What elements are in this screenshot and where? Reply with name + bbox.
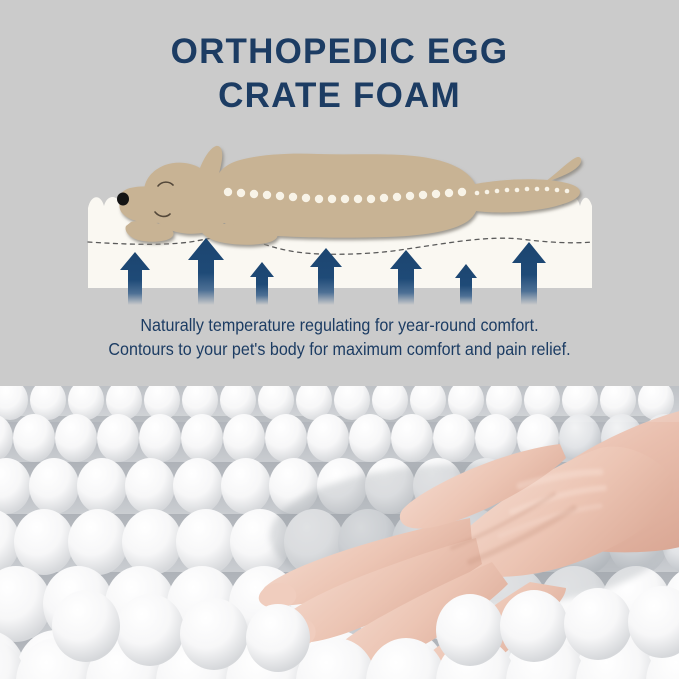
tagline-1: Naturally temperature regulating for yea… <box>27 313 652 337</box>
tagline-2: Contours to your pet's body for maximum … <box>27 337 652 361</box>
feature-taglines: Naturally temperature regulating for yea… <box>0 313 679 361</box>
page-title: ORTHOPEDIC EGG CRATE FOAM <box>0 30 679 118</box>
headline-line-1: ORTHOPEDIC EGG <box>0 30 679 74</box>
hand-pressing-foam-photo <box>0 386 679 679</box>
foam-photo-svg <box>0 386 679 679</box>
top-info-panel: ORTHOPEDIC EGG CRATE FOAM <box>0 0 679 386</box>
product-feature-poster: ORTHOPEDIC EGG CRATE FOAM <box>0 0 679 679</box>
dog-nose <box>117 193 129 206</box>
illustration-svg <box>0 120 679 310</box>
dog-on-foam-illustration <box>0 120 679 310</box>
headline-line-2: CRATE FOAM <box>0 74 679 118</box>
